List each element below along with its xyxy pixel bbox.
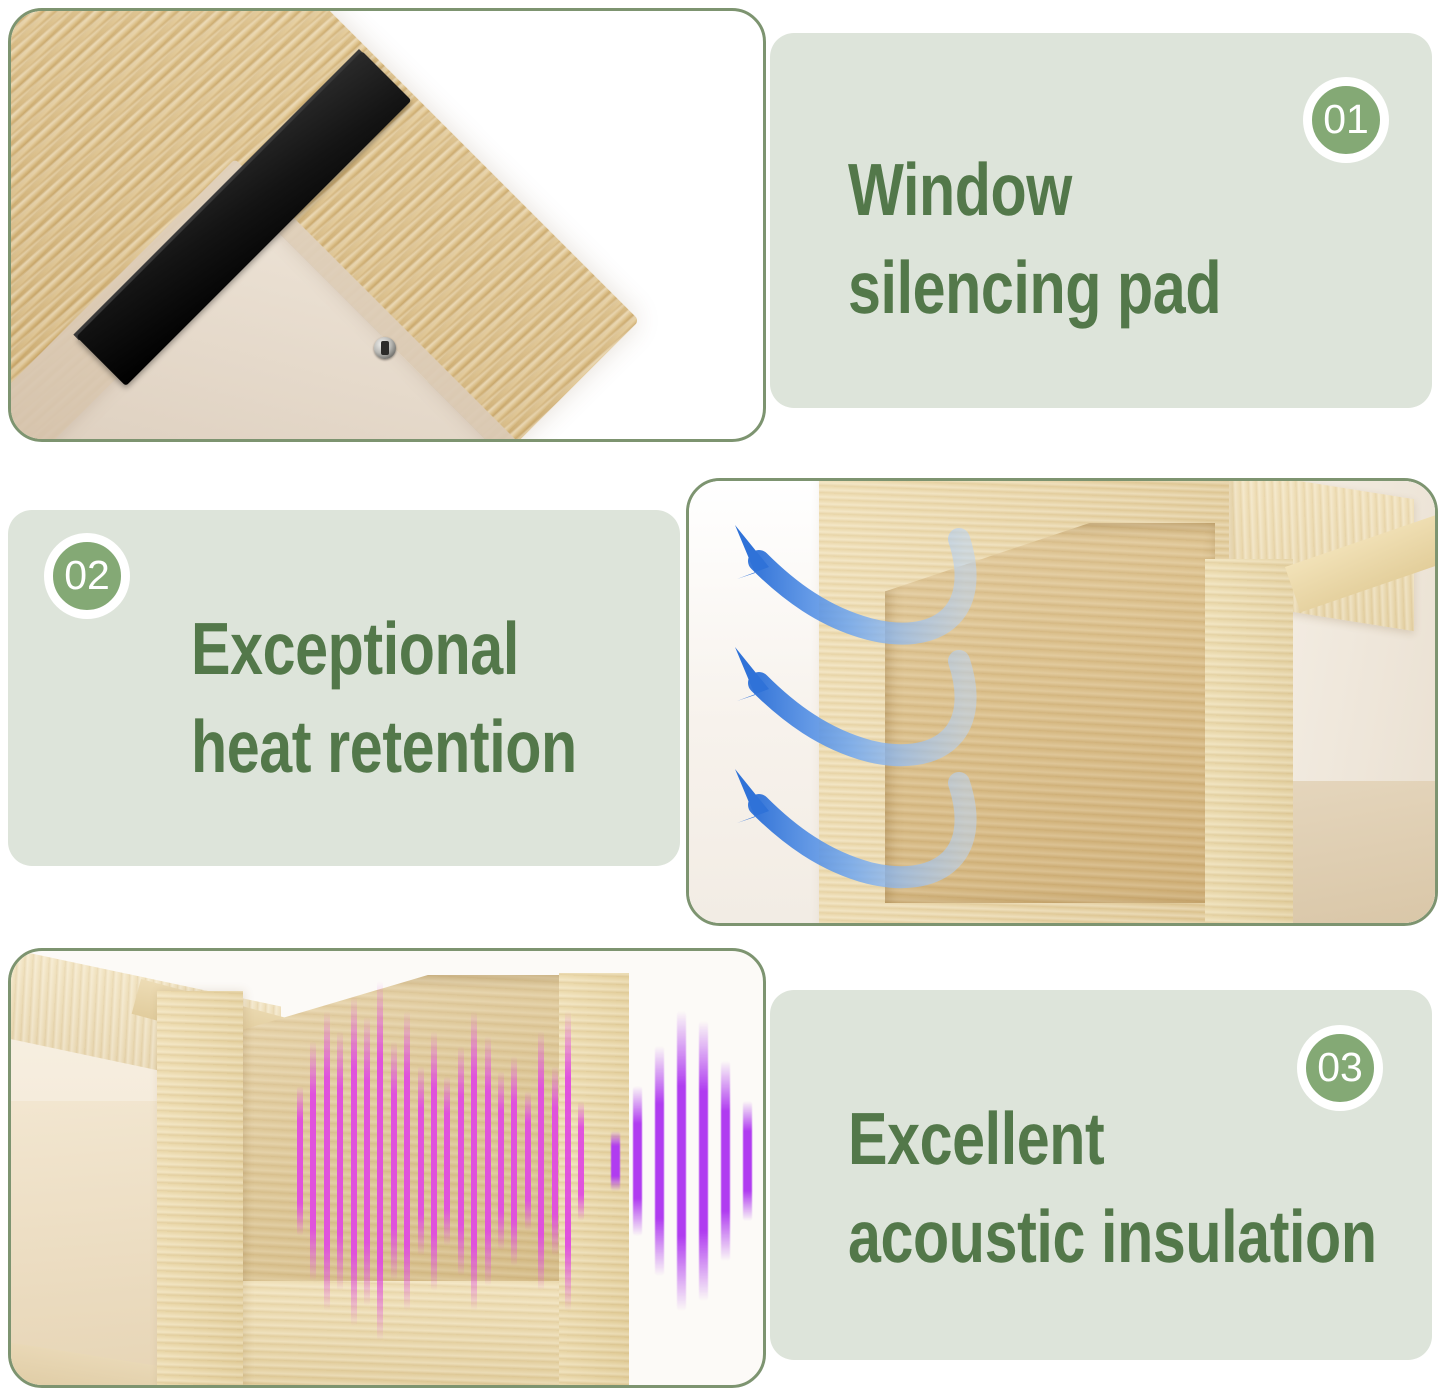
soundwave-bar [377,981,383,1341]
feature-03-number: 03 [1317,1047,1363,1088]
soundwave-bar [552,1066,558,1256]
soundwave-bar-outer [677,1011,686,1311]
feature-01-photo-roof-apex-with-black-silencing-pad [8,8,766,442]
infographic-root: 01 Window silencing pad 02 Exceptional h… [0,0,1445,1395]
soundwave-bar [471,1011,477,1311]
soundwave-bar-outer [633,1086,642,1236]
soundwave-bar [351,996,357,1326]
wood-front-post [157,991,243,1388]
soundwave-bar [297,1086,303,1236]
feature-01-title: Window silencing pad [848,141,1445,336]
soundwave-bar [324,1011,330,1311]
soundwave-bar-outer [699,1021,708,1301]
soundwave-bar [337,1031,343,1291]
soundwave-bar [404,1011,410,1311]
metal-screw [374,337,396,359]
soundwave-bar [364,1016,370,1306]
soundwave-bar [525,1091,531,1231]
soundwave-bar [565,1011,571,1311]
feature-02-number-badge: 02 [44,533,130,619]
soundwave-bar-outer [743,1101,752,1221]
soundwave-bar [444,1076,450,1246]
feature-01-text-card: 01 Window silencing pad [770,33,1432,408]
feature-02-number: 02 [64,555,110,596]
feature-03-title: Excellent acoustic insulation [848,1090,1445,1285]
soundwave-bar [485,1036,491,1286]
feature-02-photo-airflow-heat-retention-diagram [686,478,1438,926]
soundwave-bar [431,1031,437,1291]
soundwave-bar-outer [721,1061,730,1261]
soundwave-bar [391,1041,397,1281]
wood-corner-post [1205,559,1293,926]
wood-entrance-sill [233,1281,569,1388]
feature-03-text-card: 03 Excellent acoustic insulation [770,990,1432,1360]
feature-03-photo-acoustic-insulation-soundwave-diagram [8,948,766,1388]
soundwave-bar [458,1046,464,1276]
soundwave-bar [511,1056,517,1266]
soundwave-bar-outer [655,1046,664,1276]
soundwave-bar-outer [611,1131,620,1191]
feature-01-number: 01 [1323,99,1369,140]
soundwave-bar [578,1101,584,1221]
blue-airflow-arrows [729,521,1149,901]
soundwave-bar [538,1031,544,1291]
soundwave-bar [310,1041,316,1281]
feature-02-text-card: 02 Exceptional heat retention [8,510,680,866]
soundwave-bar [418,1066,424,1256]
soundwave-bar [498,1071,504,1251]
